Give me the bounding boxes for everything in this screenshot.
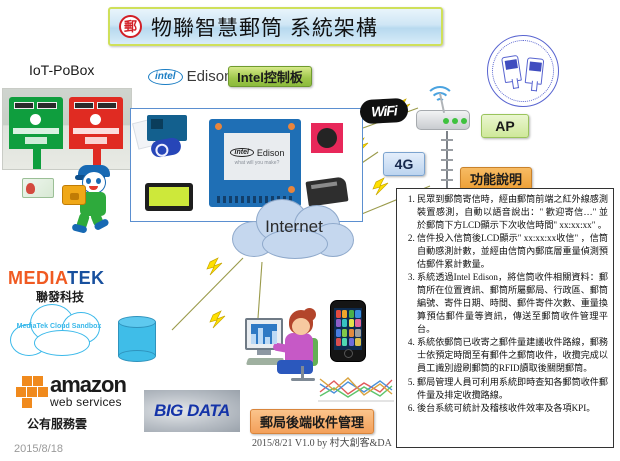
mediatek-word-b: TEK [67, 268, 105, 288]
postal-backend-management-badge: 郵局後端收件管理 [250, 409, 374, 434]
edison-board-tagline: what will you make? [235, 160, 280, 166]
function-item: 信件投入信筒後LCD顯示" xx:xx:xx收信" ，信筒自動感測計數，並經由信… [417, 232, 608, 271]
mediatek-logo: MEDIATEK [8, 268, 105, 289]
function-item: 民眾到郵筒寄信時，經由郵筒前端之紅外線感測裝置感測，自動以語音說出：" 歡迎寄信… [417, 193, 608, 232]
intel-edison-logo: intel Edison [148, 68, 232, 85]
left-date-label: 2015/8/18 [14, 443, 63, 455]
lcd-display-icon [145, 183, 193, 211]
intel-edison-board-icon: intel Edison what will you make? [209, 119, 301, 207]
intel-edison-wordmark: Edison [187, 68, 233, 85]
intel-mark-icon: intel [148, 69, 183, 85]
mediatek-cloud-sandbox: MediaTek Cloud Sandbox [10, 300, 108, 362]
aws-wordmark-webservices: web services [50, 395, 122, 409]
intel-control-board-badge: Intel控制板 [228, 66, 312, 87]
edison-board-word: Edison [257, 148, 285, 158]
public-cloud-label: 公有服務雲 [27, 415, 87, 432]
big-data-label: BIG DATA [154, 401, 230, 421]
internet-cloud: Internet [232, 195, 356, 263]
function-description-panel: 民眾到郵筒寄信時，經由郵筒前端之紅外線感測裝置感測，自動以語音說出：" 歡迎寄信… [396, 188, 614, 448]
postman-mascot-icon [60, 165, 118, 231]
wifi-router-icon [416, 110, 470, 130]
line-chart-thumbnail-icon [318, 372, 394, 402]
page-title: 郵 物聯智慧郵筒 系統架構 [108, 7, 443, 46]
internet-label: Internet [232, 217, 356, 237]
function-description-badge: 功能說明 [460, 167, 532, 190]
page-title-text: 物聯智慧郵筒 系統架構 [151, 12, 378, 42]
big-data-image: BIG DATA [144, 390, 240, 432]
edison-board-intel-mark: intel [230, 148, 254, 157]
mediatek-cloud-label: MediaTek Cloud Sandbox [10, 322, 108, 331]
operator-at-computer-icon [245, 310, 321, 382]
footer-credit: 2015/8/21 V1.0 by 村大創客&DA [252, 434, 392, 449]
function-item: 系統依郵筒已收寄之郵件量建議收件路線，郵務士依預定時間至有郵件之郵筒收件，收攬完… [417, 336, 608, 375]
red-mailbox-icon [69, 97, 123, 149]
id-card-icon [22, 178, 54, 198]
database-cylinder-icon [118, 316, 156, 362]
buzzer-module-icon [311, 123, 343, 153]
fourg-badge: 4G [383, 152, 425, 176]
mediatek-word-a: MEDIA [8, 268, 67, 288]
slide-canvas: 郵 物聯智慧郵筒 系統架構 IoT-PoBox intel Edison Int… [0, 0, 620, 461]
wifi-logo-icon: WiFi [359, 98, 408, 124]
smartphone-icon [330, 300, 366, 362]
aws-cubes-icon [14, 376, 48, 402]
function-item: 郵局管理人員可利用系統即時查知各郵筒收件郵件量及排定收攬路線。 [417, 376, 608, 402]
iot-pobox-label: IoT-PoBox [29, 62, 94, 78]
green-mailbox-icon [9, 97, 63, 149]
arduino-breakout-icon [147, 115, 187, 141]
chunghwa-post-logo-icon: 郵 [119, 15, 142, 38]
postbox-watermark-stamp-icon [487, 35, 559, 107]
mailbox-photo [2, 88, 132, 170]
cellular-tower-icon [440, 131, 454, 189]
function-list: 民眾到郵筒寄信時，經由郵筒前端之紅外線感測裝置感測，自動以語音說出：" 歡迎寄信… [401, 193, 608, 415]
function-item: 系統透過Intel Edison，將信筒收件相關資料：郵筒所在位置資訊、郵筒所屬… [417, 271, 608, 336]
ap-badge: AP [481, 114, 529, 138]
function-item: 後台系統可統計及稽核收件效率及各項KPI。 [417, 402, 608, 415]
